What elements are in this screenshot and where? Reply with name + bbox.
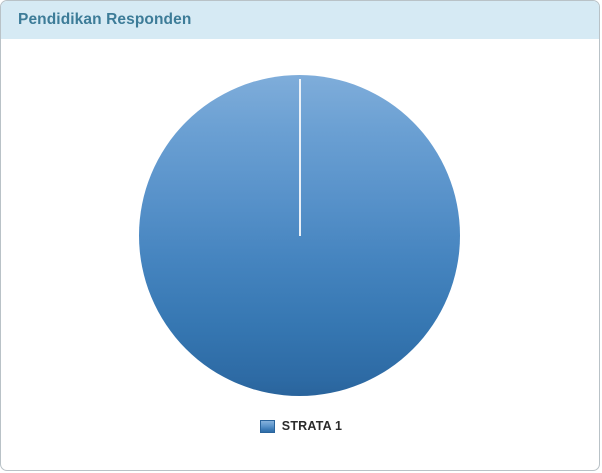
pie-chart-plot-area: STRATA 1 (1, 39, 600, 471)
pie-slice-separator (299, 79, 301, 236)
chart-legend: STRATA 1 (1, 419, 600, 433)
legend-swatch-icon (260, 420, 275, 433)
page-title: Pendidikan Responden (18, 11, 191, 29)
card-header: Pendidikan Responden (1, 1, 599, 39)
pie-chart (139, 75, 460, 396)
legend-item-label: STRATA 1 (282, 419, 342, 433)
chart-card: Pendidikan Responden STRATA 1 (0, 0, 600, 471)
legend-item-strata-1[interactable]: STRATA 1 (260, 419, 342, 433)
